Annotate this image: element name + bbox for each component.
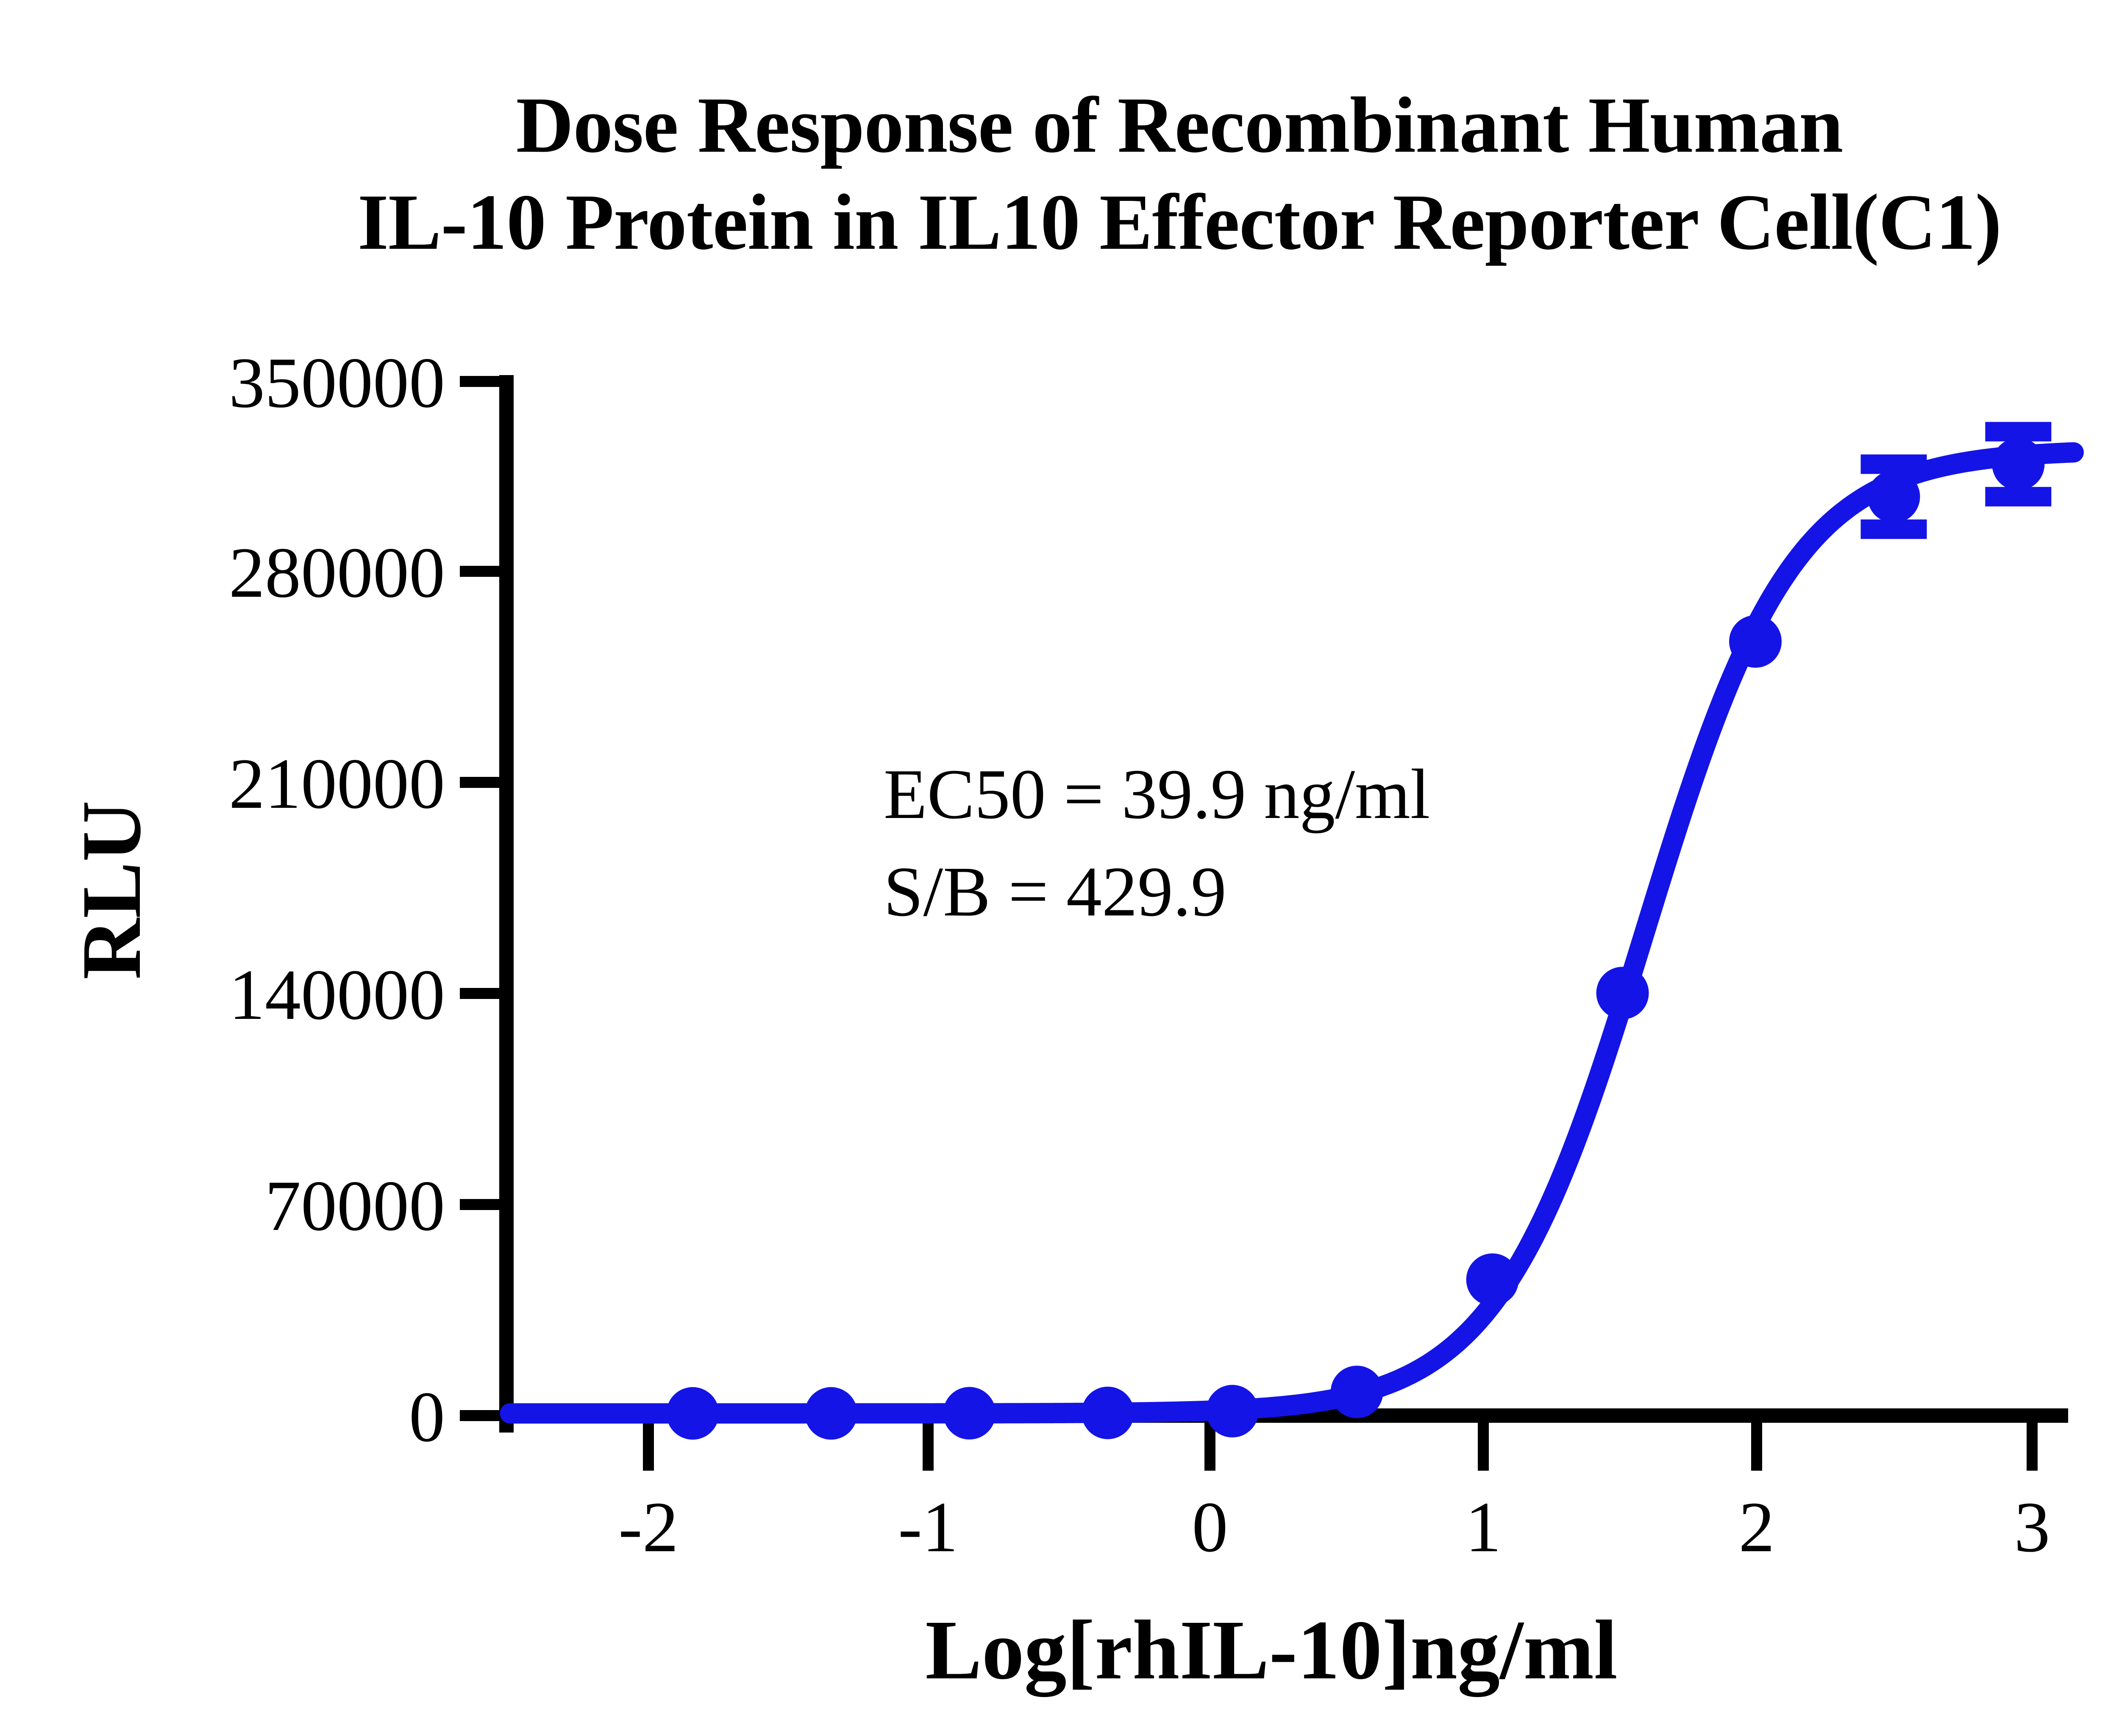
- y-tick-label-210000: 210000: [229, 744, 445, 823]
- plot-area: 350000 280000 210000 140000 70000 0 -2 -…: [0, 0, 2119, 1736]
- x-axis-ticks: [648, 1423, 2032, 1471]
- data-point-marker: [805, 1387, 857, 1440]
- x-tick-label-2: 2: [1739, 1487, 1775, 1567]
- data-point-marker: [1596, 967, 1649, 1019]
- y-tick-label-280000: 280000: [229, 533, 445, 612]
- data-point-marker: [1206, 1385, 1259, 1438]
- x-tick-label-neg1: -1: [898, 1487, 958, 1567]
- data-point-marker: [1466, 1253, 1519, 1306]
- data-series-layer: [510, 432, 2074, 1440]
- data-point-marker: [666, 1387, 719, 1440]
- data-point-marker: [1082, 1387, 1134, 1439]
- chart-figure: Dose Response of Recombinant Human IL-10…: [0, 0, 2119, 1736]
- fit-curve: [510, 452, 2074, 1413]
- data-point-marker: [1992, 438, 2044, 490]
- y-axis-title: RLU: [65, 801, 159, 979]
- sb-annotation: S/B = 429.9: [884, 852, 1226, 931]
- x-tick-label-1: 1: [1466, 1487, 1502, 1567]
- y-tick-label-350000: 350000: [229, 343, 445, 423]
- ec50-annotation: EC50 = 39.9 ng/ml: [884, 755, 1430, 834]
- x-tick-label-3: 3: [2014, 1487, 2050, 1567]
- y-tick-label-140000: 140000: [229, 955, 445, 1035]
- y-tick-label-70000: 70000: [265, 1166, 445, 1246]
- x-tick-label-0: 0: [1192, 1487, 1228, 1567]
- data-point-marker: [1729, 615, 1782, 668]
- data-point-marker: [1868, 470, 1920, 523]
- x-axis-title: Log[rhIL-10]ng/ml: [925, 1603, 1617, 1697]
- data-point-marker: [1331, 1366, 1383, 1418]
- x-tick-label-neg2: -2: [618, 1487, 679, 1567]
- data-point-marker: [943, 1387, 996, 1439]
- y-tick-label-0: 0: [409, 1377, 445, 1457]
